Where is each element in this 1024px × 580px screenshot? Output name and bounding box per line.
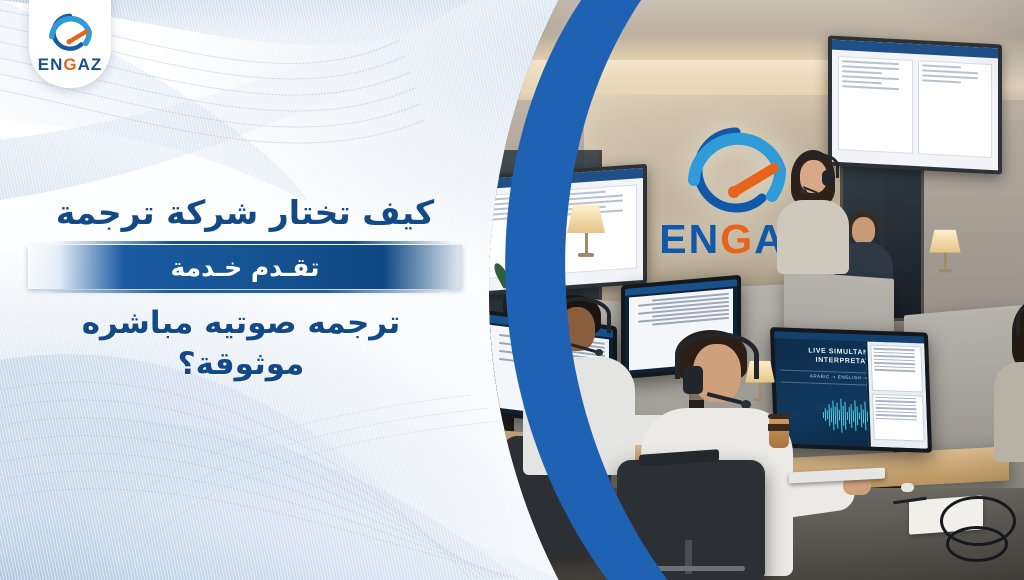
wordmark-az: AZ xyxy=(78,55,103,74)
engaz-gauge-icon xyxy=(44,11,96,53)
headline-line-3: ترجمه صوتيه مباشره موثوقة؟ xyxy=(0,289,480,384)
engaz-promo-banner: ENGAZ xyxy=(0,0,1024,580)
wordmark-g: G xyxy=(63,55,77,74)
headline-block: كيف تختار شركة ترجمة تقـدم خـدمة ترجمه ص… xyxy=(0,188,480,384)
headline-line-1: كيف تختار شركة ترجمة xyxy=(0,188,480,243)
headline-ribbon: تقـدم خـدمة xyxy=(28,245,462,289)
engaz-wordmark: ENGAZ xyxy=(38,56,103,73)
wordmark-en: EN xyxy=(38,55,64,74)
headline-line-2: تقـدم خـدمة xyxy=(170,253,319,282)
engaz-logo-badge[interactable]: ENGAZ xyxy=(29,0,111,88)
